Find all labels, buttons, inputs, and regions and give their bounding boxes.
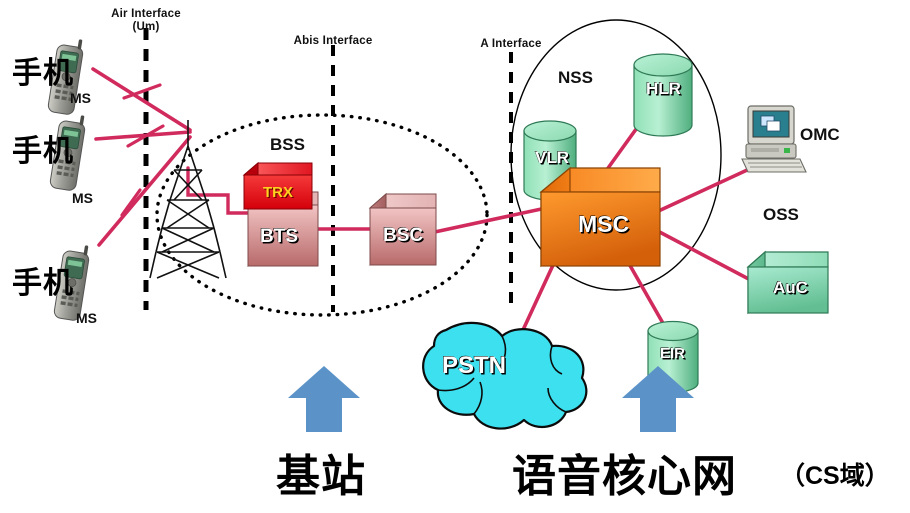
bss-boundary-ellipse	[157, 115, 487, 315]
up-arrow-icon-left	[288, 366, 360, 432]
ms-label-2: MS	[72, 190, 93, 206]
caption-voice-core: 语音核心网	[512, 440, 737, 504]
ms-label-1: MS	[70, 90, 91, 106]
group-label-bss: BSS	[270, 135, 305, 155]
diagram-canvas	[0, 0, 910, 513]
link-msc-auc	[652, 228, 760, 285]
interface-label-a: A Interface	[463, 38, 559, 51]
caption-cs-domain: （CS域）	[780, 456, 890, 492]
msc-node[interactable]	[541, 168, 660, 266]
bsc-node[interactable]	[370, 194, 436, 265]
ms-label-3: MS	[76, 310, 97, 326]
link-ms1-antenna	[93, 69, 190, 130]
bts-node[interactable]	[244, 163, 318, 266]
desktop-computer-icon	[742, 106, 806, 172]
omc-label: OMC	[800, 125, 840, 145]
gsm-architecture-diagram: Air Interface (Um) Abis Interface A Inte…	[0, 0, 910, 513]
ms-cn-label-2: 手机	[12, 126, 74, 170]
link-msc-omc	[652, 165, 758, 214]
auc-node[interactable]	[748, 252, 828, 313]
ms-cn-label-3: 手机	[12, 258, 74, 302]
ms-cn-label-1: 手机	[12, 48, 74, 92]
group-label-nss: NSS	[558, 68, 593, 88]
interface-label-um: Air Interface (Um)	[96, 8, 196, 34]
group-label-oss: OSS	[763, 205, 799, 225]
link-msc-eir	[628, 262, 668, 332]
hlr-node[interactable]	[634, 54, 692, 136]
link-ms3-tick	[122, 190, 140, 215]
antenna-tower-icon	[150, 120, 226, 278]
cloud-icon	[423, 323, 586, 429]
caption-base-station: 基站	[276, 440, 366, 504]
interface-label-abis: Abis Interface	[275, 35, 391, 48]
